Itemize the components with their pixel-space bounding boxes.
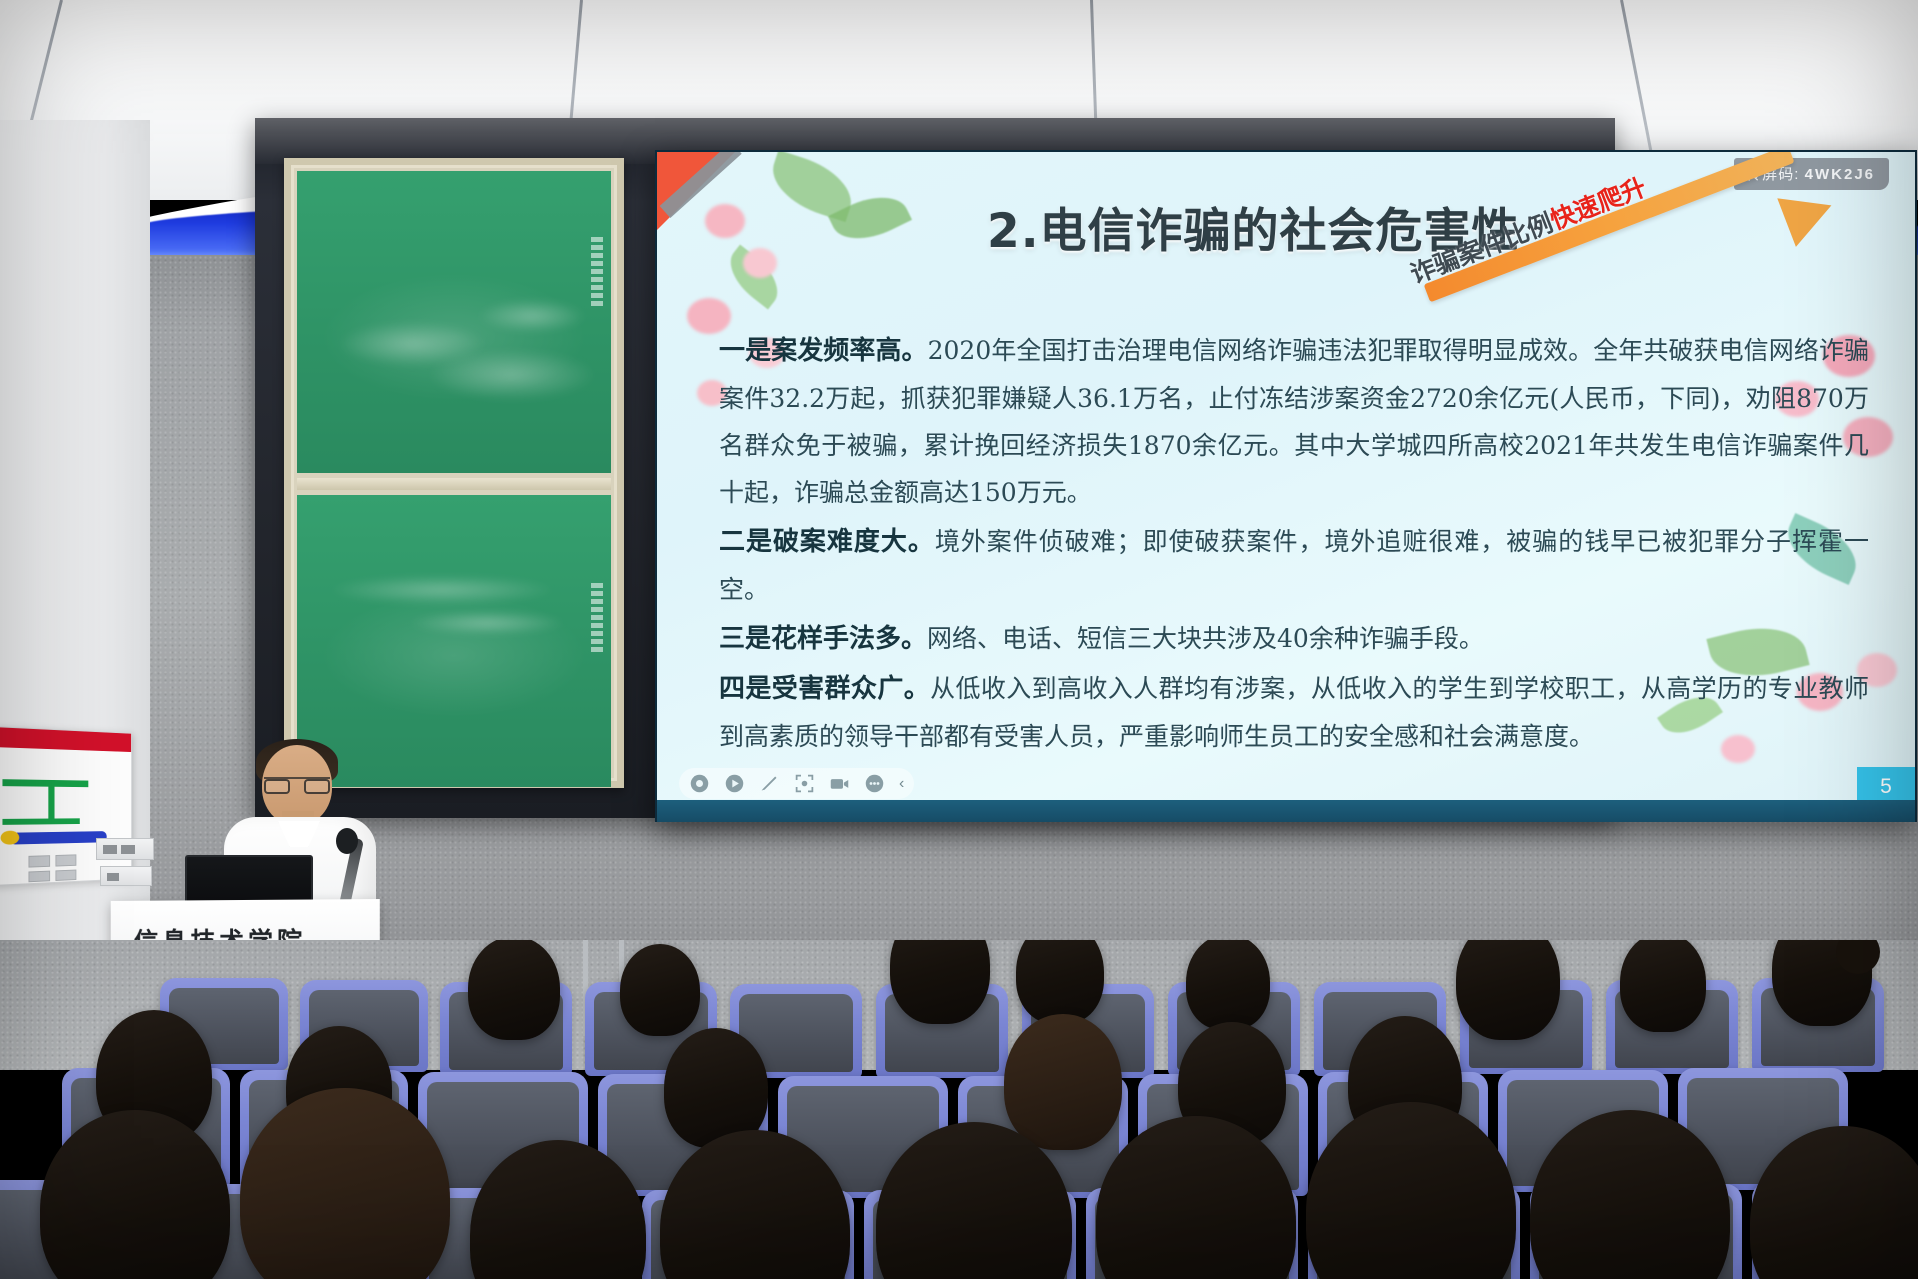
audience-head [1456, 940, 1560, 1040]
blackboard-clip-strip [591, 583, 603, 652]
slide-paragraph: 三是花样手法多。网络、电话、短信三大块共涉及40余种诈骗手段。 [719, 615, 1869, 663]
wall-poster [0, 726, 132, 886]
audience-area [0, 940, 1918, 1279]
rising-arrow-annotation: 诈骗案件比例快速爬升 [1417, 176, 1877, 326]
chalk-smudge [427, 349, 597, 401]
poster-diagram-line [2, 779, 88, 787]
lecture-hall-scene: 传屏码: 4WK2J6 2.电信诈骗的社会危害性 诈骗案件比例快速爬升 一是案发… [0, 0, 1918, 1279]
chalk-smudge [407, 611, 567, 635]
projected-slide[interactable]: 传屏码: 4WK2J6 2.电信诈骗的社会危害性 诈骗案件比例快速爬升 一是案发… [657, 152, 1915, 807]
focus-icon[interactable] [794, 773, 815, 794]
audience-head [468, 940, 560, 1040]
blackboard [284, 158, 624, 788]
audience-head [1004, 1014, 1122, 1150]
slide-bottom-bar [657, 800, 1915, 822]
paragraph-lead: 四是受害群众广。 [719, 674, 930, 704]
audience-head [1016, 940, 1104, 1024]
paragraph-lead: 三是花样手法多。 [719, 624, 927, 654]
audience-head [1620, 940, 1706, 1032]
microphone-head [336, 828, 358, 854]
paragraph-text: 网络、电话、短信三大块共涉及40余种诈骗手段。 [927, 624, 1484, 653]
paragraph-lead: 二是破案难度大。 [719, 527, 935, 557]
blackboard-clip-strip [591, 237, 603, 306]
more-icon[interactable] [864, 773, 885, 794]
blackboard-upper-panel [297, 171, 611, 473]
slide-paragraph: 四是受害群众广。从低收入到高收入人群均有涉案，从低收入的学生到学校职工，从高学历… [719, 665, 1869, 760]
poster-tag [55, 854, 76, 866]
blackboard-lower-panel [297, 495, 611, 787]
presenter-glasses [264, 777, 330, 793]
paragraph-lead: 一是案发频率高。 [719, 336, 928, 366]
camera-icon[interactable] [829, 773, 850, 794]
arrow-head-icon [1777, 181, 1840, 247]
collapse-chevron-icon[interactable]: ‹ [899, 775, 904, 793]
chalk-smudge [477, 299, 587, 333]
blossom-decor [705, 204, 745, 238]
record-icon[interactable] [689, 773, 710, 794]
blackboard-divider [297, 478, 611, 490]
audience-head [890, 940, 990, 1024]
chalk-smudge [327, 575, 557, 605]
pen-icon[interactable] [759, 773, 780, 794]
wall-outlet-box [100, 866, 152, 886]
play-icon[interactable] [724, 773, 745, 794]
wall-switch-box [96, 838, 154, 860]
poster-tag [28, 871, 50, 883]
audience-head [1186, 940, 1270, 1030]
slide-paragraph: 一是案发频率高。2020年全国打击治理电信网络诈骗违法犯罪取得明显成效。全年共破… [719, 327, 1869, 516]
blossom-decor [743, 248, 777, 278]
slide-toolbar[interactable]: ‹ [679, 768, 914, 799]
poster-tag [28, 855, 50, 867]
audience-head [620, 944, 700, 1036]
poster-blue-bar [10, 831, 107, 844]
poster-tag [55, 870, 76, 881]
poster-diagram-line [2, 818, 79, 825]
slide-paragraph: 二是破案难度大。境外案件侦破难；即使破获案件，境外追赃很难，被骗的钱早已被犯罪分… [719, 518, 1869, 613]
slide-body: 一是案发频率高。2020年全国打击治理电信网络诈骗违法犯罪取得明显成效。全年共破… [719, 327, 1869, 762]
